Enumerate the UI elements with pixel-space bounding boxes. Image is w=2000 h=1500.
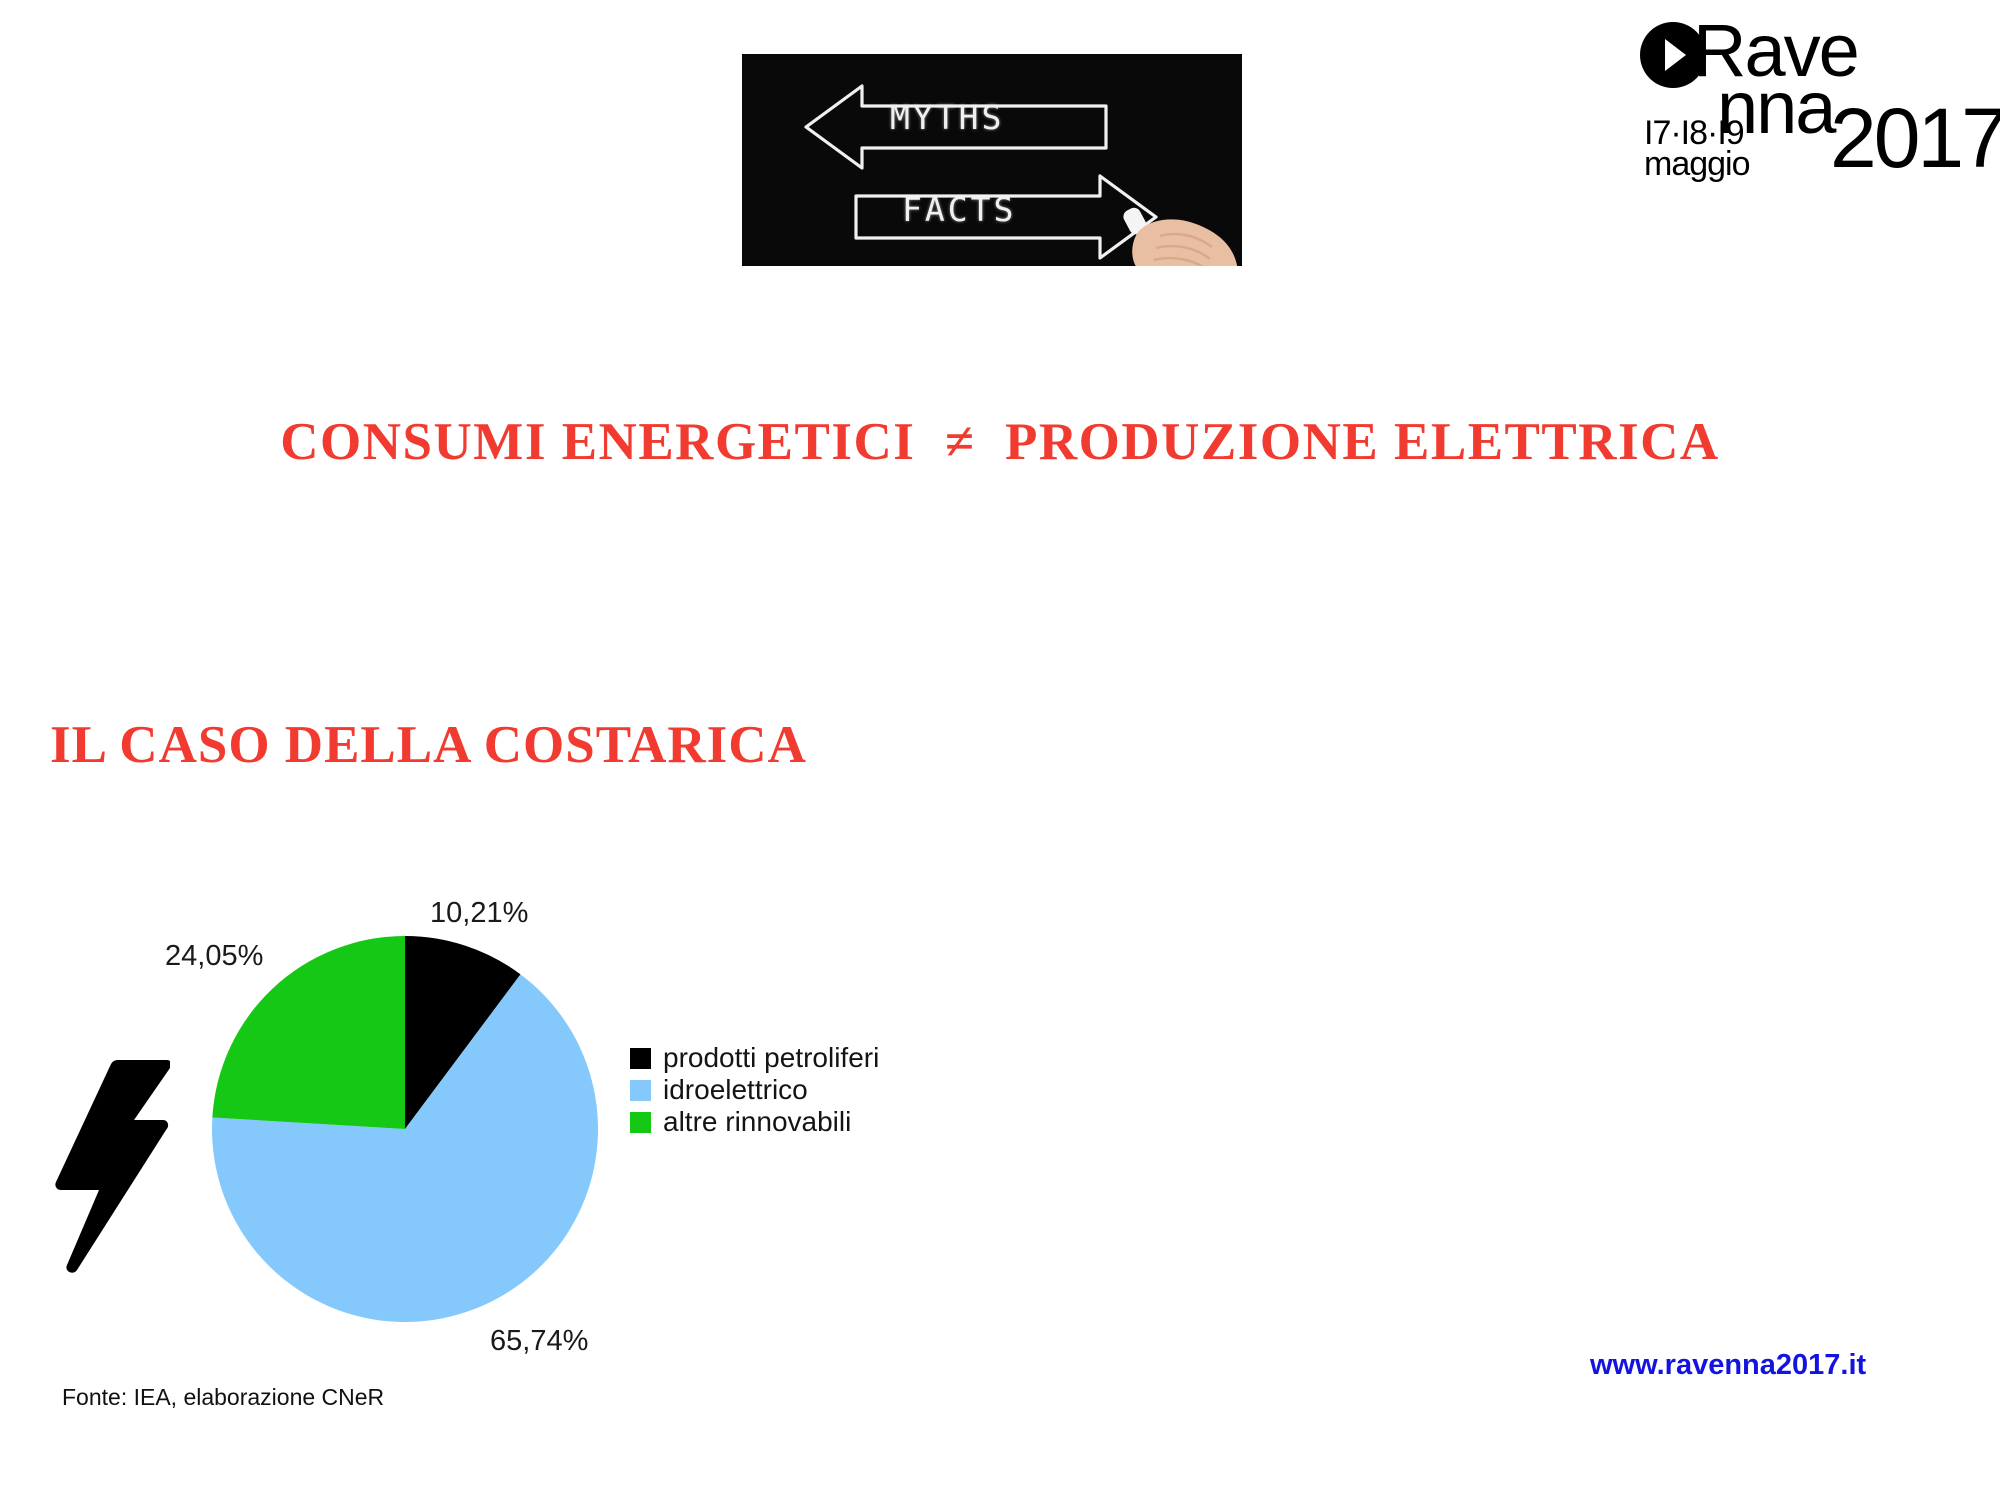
pie-slices <box>210 934 600 1324</box>
source-note: Fonte: IEA, elaborazione CNeR <box>62 1384 384 1411</box>
logo-event-month: maggio <box>1644 147 1750 181</box>
blackboard-myths-facts-photo: MYTHS FACTS <box>742 54 1242 266</box>
legend-item-idroelettrico: idroelettrico <box>630 1075 879 1105</box>
legend-label-altre-rinnovabili: altre rinnovabili <box>663 1108 851 1136</box>
case-study-title: IL CASO DELLA COSTARICA <box>50 715 807 775</box>
legend-label-prodotti-petroliferi: prodotti petroliferi <box>663 1044 879 1072</box>
pie-value-label-altre-rinnovabili: 24,05% <box>165 940 263 973</box>
pie-chart: 10,21% 65,74% 24,05% prodotti petrolifer… <box>140 900 940 1370</box>
main-title: CONSUMI ENERGETICI ≠ PRODUZIONE ELETTRIC… <box>0 412 2000 472</box>
website-url-link[interactable]: www.ravenna2017.it <box>1590 1349 1866 1382</box>
pie-legend: prodotti petroliferi idroelettrico altre… <box>630 1043 879 1139</box>
pie-value-label-idroelettrico: 65,74% <box>490 1325 588 1358</box>
legend-swatch-green-icon <box>630 1112 651 1133</box>
legend-label-idroelettrico: idroelettrico <box>663 1076 808 1104</box>
legend-swatch-black-icon <box>630 1048 651 1069</box>
logo-year: 2017 <box>1830 96 2000 180</box>
legend-item-altre-rinnovabili: altre rinnovabili <box>630 1107 879 1137</box>
event-logo: Rave nna 2017 I7·I8·I9 maggio <box>1630 8 1980 213</box>
legend-item-prodotti-petroliferi: prodotti petroliferi <box>630 1043 879 1073</box>
facts-chalk-label: FACTS <box>902 190 1016 229</box>
hand-with-chalk-icon <box>1120 202 1240 266</box>
myths-chalk-label: MYTHS <box>890 98 1004 137</box>
legend-swatch-lightblue-icon <box>630 1080 651 1101</box>
pie-value-label-prodotti-petroliferi: 10,21% <box>430 897 528 930</box>
